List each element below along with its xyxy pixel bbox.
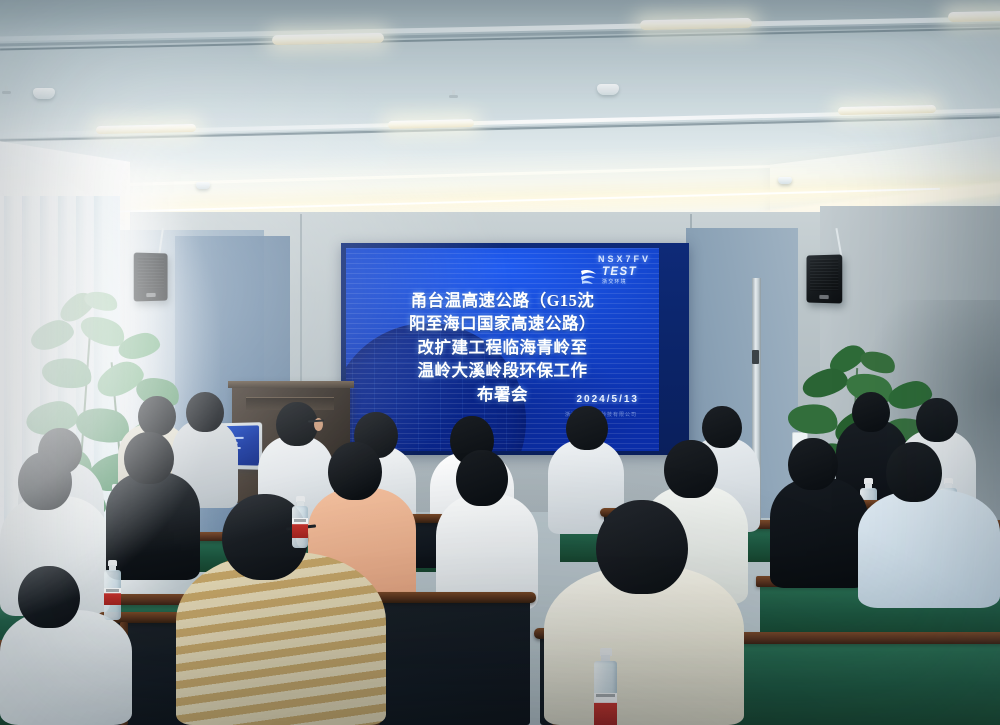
speaker-grille [810, 259, 838, 292]
slide-title-line: 甬台温高速公路（G15沈 [358, 289, 647, 312]
water-bottle[interactable] [594, 648, 617, 725]
water-bottle[interactable] [292, 496, 308, 548]
conference-room-photo: NSX7FV TEST 浙交环境 甬台温高速公路（G15沈 阳至海口国家高速公路… [0, 0, 1000, 725]
sprinkler-head-icon [449, 90, 458, 99]
sprinkler-head-icon [2, 86, 11, 95]
smoke-detector-icon [778, 177, 792, 184]
podium-top [228, 381, 354, 388]
company-logo: TEST 浙交环境 [579, 267, 637, 285]
speaker-badge [819, 295, 828, 299]
logo-chinese: 浙交环境 [602, 280, 637, 285]
slide-title: 甬台温高速公路（G15沈 阳至海口国家高速公路） 改扩建工程临海青岭至 温岭大溪… [358, 289, 647, 406]
logo-text: TEST 浙交环境 [602, 267, 637, 285]
smoke-detector-icon [196, 182, 210, 189]
screen-watermark: NSX7FV [598, 254, 651, 264]
slide-title-line: 阳至海口国家高速公路） [358, 312, 647, 335]
slide-date: 2024/5/13 [577, 394, 640, 405]
leaf-swoosh-logo-icon [579, 268, 598, 285]
speaker-grille [138, 257, 164, 290]
slide-title-line: 改扩建工程临海青岭至 [358, 336, 647, 359]
table-row-4b [700, 640, 1000, 725]
water-bottle[interactable] [104, 560, 122, 620]
smoke-detector-icon [33, 88, 55, 99]
wall-speaker-right [807, 254, 843, 303]
logo-english: TEST [602, 267, 637, 279]
slide-title-line: 温岭大溪岭段环保工作 [358, 359, 647, 382]
door-handle-icon[interactable] [752, 350, 759, 364]
linear-light-3 [948, 10, 1000, 22]
smoke-detector-icon [597, 84, 619, 95]
